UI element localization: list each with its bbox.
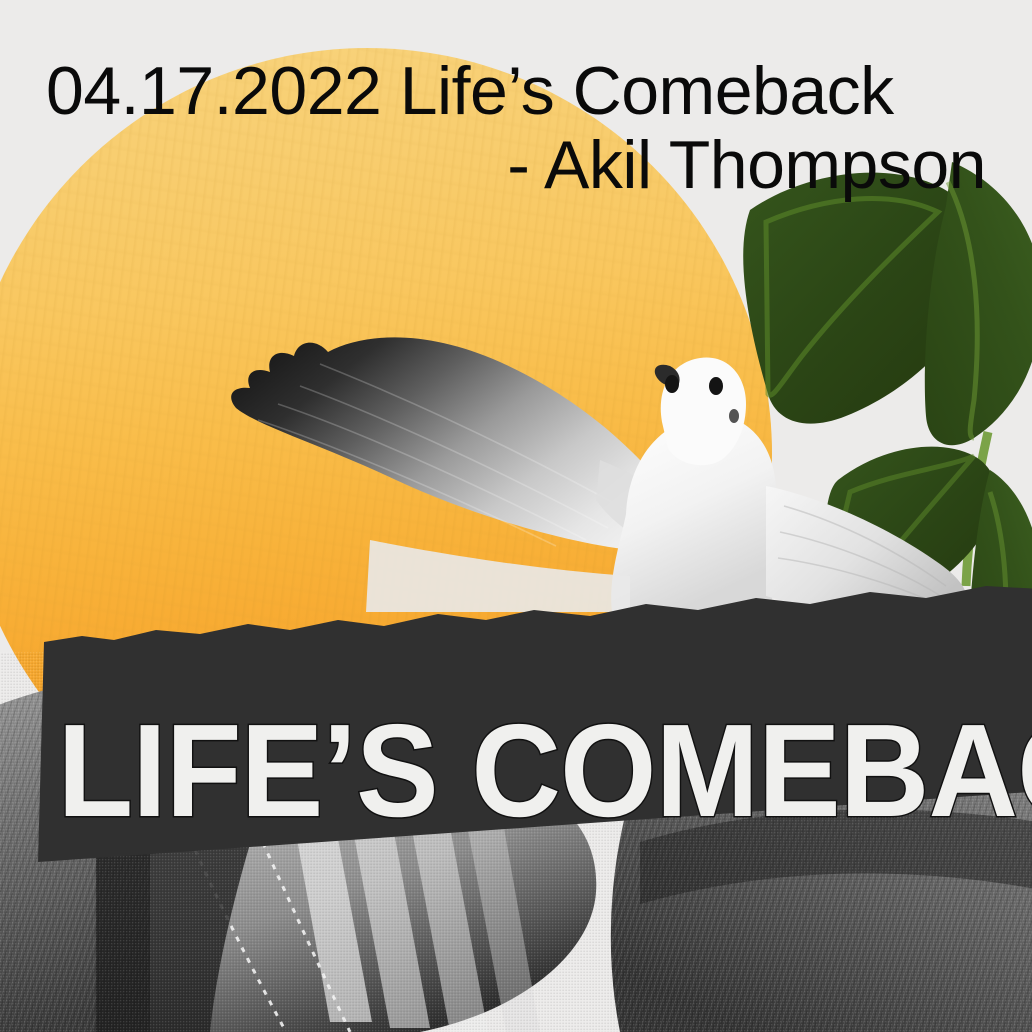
poster-canvas: LIFE’S COMEBACK 04.17.2022 Life’s Comeba… bbox=[0, 0, 1032, 1032]
seagull-ear-mark bbox=[729, 409, 739, 423]
lifes-comeback-banner: LIFE’S COMEBACK bbox=[0, 580, 1032, 880]
page-headline: 04.17.2022 Life’s Comeback - Akil Thomps… bbox=[46, 54, 986, 202]
seagull-eye-left bbox=[665, 375, 679, 393]
seagull-eye-right bbox=[709, 377, 723, 395]
banner-text: LIFE’S COMEBACK bbox=[57, 697, 1032, 844]
headline-line-2: - Akil Thompson bbox=[46, 128, 986, 202]
headline-line-1: 04.17.2022 Life’s Comeback bbox=[46, 54, 986, 128]
